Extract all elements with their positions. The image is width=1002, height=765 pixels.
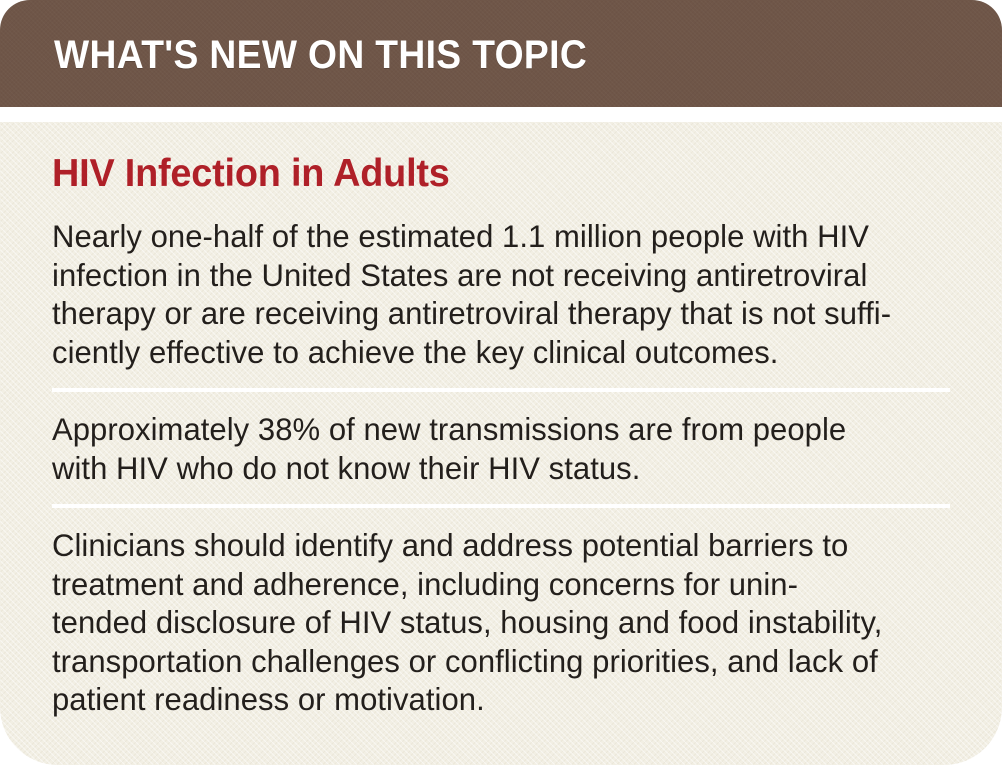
statement-divider-2: [52, 504, 950, 508]
statement-item-3: Clinicians should identify and address p…: [52, 526, 937, 719]
whats-new-callout-card: WHAT'S NEW ON THIS TOPIC HIV Infection i…: [0, 0, 1002, 765]
callout-header-bar: WHAT'S NEW ON THIS TOPIC: [0, 0, 1002, 107]
statement-item-1: Nearly one-half of the estimated 1.1 mil…: [52, 217, 937, 371]
callout-header-title: WHAT'S NEW ON THIS TOPIC: [54, 35, 587, 75]
statement-divider-1: [52, 388, 950, 392]
statement-list: Nearly one-half of the estimated 1.1 mil…: [52, 217, 950, 719]
callout-body-panel: HIV Infection in Adults Nearly one-half …: [0, 122, 1002, 765]
page-title: HIV Infection in Adults: [52, 122, 923, 196]
statement-item-2: Approximately 38% of new transmissions a…: [52, 410, 937, 487]
